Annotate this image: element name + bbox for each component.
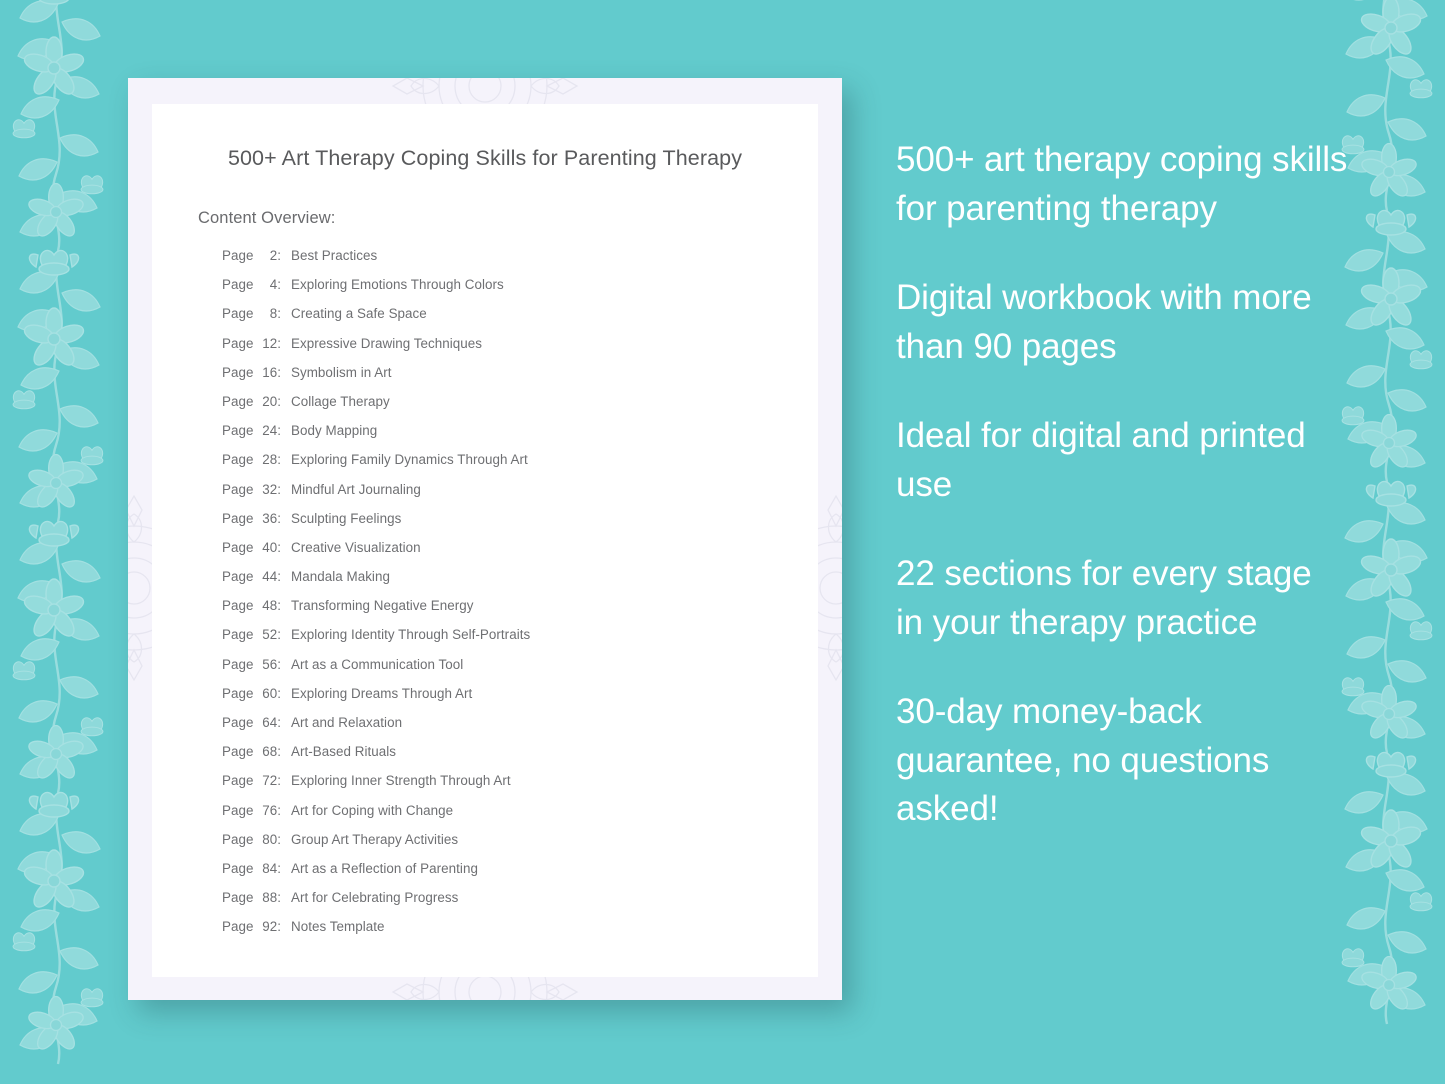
content-overview-heading: Content Overview: (198, 209, 818, 228)
marketing-bullet: 30-day money-back guarantee, no question… (896, 688, 1348, 834)
workbook-preview-card: 500+ Art Therapy Coping Skills for Paren… (128, 78, 842, 1000)
toc-entry-title: Expressive Drawing Techniques (284, 336, 482, 351)
toc-page-word: Page (222, 306, 253, 321)
toc-entry-page: Page 48: (222, 598, 284, 613)
toc-entry-title: Best Practices (284, 248, 377, 263)
toc-entry-page: Page 24: (222, 423, 284, 438)
toc-entry-title: Art-Based Rituals (284, 744, 396, 759)
toc-entry: Page 28:Exploring Family Dynamics Throug… (222, 452, 818, 481)
toc-page-word: Page (222, 773, 253, 788)
toc-page-number: 80 (257, 832, 277, 847)
toc-entry-page: Page 92: (222, 919, 284, 934)
toc-entry-title: Body Mapping (284, 423, 377, 438)
toc-page-number: 44 (257, 569, 277, 584)
toc-entry: Page 52:Exploring Identity Through Self-… (222, 627, 818, 656)
toc-page-word: Page (222, 511, 253, 526)
toc-entry-page: Page 84: (222, 861, 284, 876)
toc-entry-page: Page 32: (222, 482, 284, 497)
toc-entry-page: Page 64: (222, 715, 284, 730)
page-title: 500+ Art Therapy Coping Skills for Paren… (152, 143, 818, 174)
toc-page-word: Page (222, 861, 253, 876)
marketing-bullet: Digital workbook with more than 90 pages (896, 274, 1348, 371)
toc-page-number: 56 (257, 657, 277, 672)
marketing-bullet: Ideal for digital and printed use (896, 412, 1348, 509)
toc-entry-title: Sculpting Feelings (284, 511, 401, 526)
toc-entry-page: Page 88: (222, 890, 284, 905)
toc-entry-page: Page 60: (222, 686, 284, 701)
toc-page-word: Page (222, 627, 253, 642)
toc-entry-title: Art and Relaxation (284, 715, 402, 730)
toc-page-number: 48 (257, 598, 277, 613)
toc-entry-page: Page 20: (222, 394, 284, 409)
toc-page-number: 4 (257, 277, 277, 292)
toc-entry: Page 12:Expressive Drawing Techniques (222, 336, 818, 365)
toc-entry: Page 24:Body Mapping (222, 423, 818, 452)
toc-page-word: Page (222, 365, 253, 380)
toc-page-word: Page (222, 598, 253, 613)
toc-entry-page: Page 8: (222, 306, 284, 321)
toc-page-word: Page (222, 423, 253, 438)
toc-entry-title: Transforming Negative Energy (284, 598, 474, 613)
toc-entry-title: Art as a Communication Tool (284, 657, 463, 672)
toc-entry: Page 72:Exploring Inner Strength Through… (222, 773, 818, 802)
toc-entry-page: Page 52: (222, 627, 284, 642)
toc-page-word: Page (222, 890, 253, 905)
toc-entry-title: Exploring Emotions Through Colors (284, 277, 504, 292)
toc-entry-page: Page 40: (222, 540, 284, 555)
toc-entry: Page 20:Collage Therapy (222, 394, 818, 423)
toc-entry: Page 88:Art for Celebrating Progress (222, 890, 818, 919)
toc-entry: Page 40:Creative Visualization (222, 540, 818, 569)
toc-entry: Page 44:Mandala Making (222, 569, 818, 598)
toc-entry: Page 60:Exploring Dreams Through Art (222, 686, 818, 715)
toc-entry: Page 68:Art-Based Rituals (222, 744, 818, 773)
toc-page-word: Page (222, 657, 253, 672)
toc-page-number: 24 (257, 423, 277, 438)
toc-entry: Page 2:Best Practices (222, 248, 818, 277)
toc-entry-title: Art as a Reflection of Parenting (284, 861, 478, 876)
product-mockup-canvas: 500+ Art Therapy Coping Skills for Paren… (0, 0, 1445, 1084)
marketing-bullet: 22 sections for every stage in your ther… (896, 550, 1348, 647)
toc-page-number: 84 (257, 861, 277, 876)
toc-entry-title: Notes Template (284, 919, 385, 934)
toc-page-word: Page (222, 277, 253, 292)
toc-entry-page: Page 2: (222, 248, 284, 263)
marketing-bullet: 500+ art therapy coping skills for paren… (896, 136, 1348, 233)
toc-page-number: 36 (257, 511, 277, 526)
toc-page-number: 52 (257, 627, 277, 642)
toc-entry-page: Page 44: (222, 569, 284, 584)
toc-entry-title: Art for Celebrating Progress (284, 890, 458, 905)
toc-entry: Page 56:Art as a Communication Tool (222, 657, 818, 686)
toc-entry-title: Symbolism in Art (284, 365, 392, 380)
toc-page-number: 64 (257, 715, 277, 730)
toc-entry-title: Collage Therapy (284, 394, 390, 409)
toc-page-word: Page (222, 832, 253, 847)
toc-page-number: 40 (257, 540, 277, 555)
toc-page-number: 28 (257, 452, 277, 467)
toc-entry: Page 4:Exploring Emotions Through Colors (222, 277, 818, 306)
toc-entry-page: Page 36: (222, 511, 284, 526)
toc-page-number: 16 (257, 365, 277, 380)
toc-entry-title: Creating a Safe Space (284, 306, 427, 321)
toc-page-word: Page (222, 715, 253, 730)
toc-entry: Page 80:Group Art Therapy Activities (222, 832, 818, 861)
toc-page-number: 32 (257, 482, 277, 497)
toc-entry-title: Exploring Family Dynamics Through Art (284, 452, 528, 467)
toc-page-number: 76 (257, 803, 277, 818)
toc-entry: Page 8:Creating a Safe Space (222, 306, 818, 335)
toc-entry-page: Page 56: (222, 657, 284, 672)
toc-entry: Page 84:Art as a Reflection of Parenting (222, 861, 818, 890)
toc-page-word: Page (222, 394, 253, 409)
workbook-page: 500+ Art Therapy Coping Skills for Paren… (152, 104, 818, 977)
toc-page-word: Page (222, 744, 253, 759)
toc-page-word: Page (222, 336, 253, 351)
toc-page-number: 72 (257, 773, 277, 788)
toc-entry: Page 92:Notes Template (222, 919, 818, 948)
toc-page-number: 8 (257, 306, 277, 321)
toc-entry-page: Page 12: (222, 336, 284, 351)
toc-page-word: Page (222, 803, 253, 818)
toc-entry-page: Page 28: (222, 452, 284, 467)
toc-entry: Page 48:Transforming Negative Energy (222, 598, 818, 627)
toc-entry-title: Mindful Art Journaling (284, 482, 421, 497)
toc-entry-page: Page 80: (222, 832, 284, 847)
toc-page-word: Page (222, 686, 253, 701)
toc-page-number: 68 (257, 744, 277, 759)
toc-entry-page: Page 72: (222, 773, 284, 788)
toc-page-number: 20 (257, 394, 277, 409)
toc-page-word: Page (222, 540, 253, 555)
toc-page-word: Page (222, 452, 253, 467)
toc-entry: Page 16:Symbolism in Art (222, 365, 818, 394)
toc-entry-page: Page 4: (222, 277, 284, 292)
toc-page-word: Page (222, 919, 253, 934)
toc-entry-title: Group Art Therapy Activities (284, 832, 458, 847)
toc-entry: Page 36:Sculpting Feelings (222, 511, 818, 540)
toc-entry: Page 64:Art and Relaxation (222, 715, 818, 744)
toc-entry-page: Page 16: (222, 365, 284, 380)
toc-page-number: 92 (257, 919, 277, 934)
toc-entry-title: Exploring Identity Through Self-Portrait… (284, 627, 530, 642)
toc-page-number: 12 (257, 336, 277, 351)
marketing-copy-column: 500+ art therapy coping skills for paren… (896, 136, 1348, 834)
toc-page-word: Page (222, 569, 253, 584)
toc-entry-title: Exploring Inner Strength Through Art (284, 773, 511, 788)
toc-entry-title: Mandala Making (284, 569, 390, 584)
toc-entry-title: Art for Coping with Change (284, 803, 453, 818)
toc-page-word: Page (222, 482, 253, 497)
toc-page-number: 88 (257, 890, 277, 905)
toc-page-number: 60 (257, 686, 277, 701)
floral-vine-border-icon (0, 0, 128, 1084)
toc-page-word: Page (222, 248, 253, 263)
toc-entry-page: Page 68: (222, 744, 284, 759)
toc-entry-title: Exploring Dreams Through Art (284, 686, 472, 701)
toc-entry-page: Page 76: (222, 803, 284, 818)
toc-entry: Page 76:Art for Coping with Change (222, 803, 818, 832)
toc-entry: Page 32:Mindful Art Journaling (222, 482, 818, 511)
toc-page-number: 2 (257, 248, 277, 263)
table-of-contents: Page 2:Best PracticesPage 4:Exploring Em… (222, 248, 818, 949)
toc-entry-title: Creative Visualization (284, 540, 421, 555)
